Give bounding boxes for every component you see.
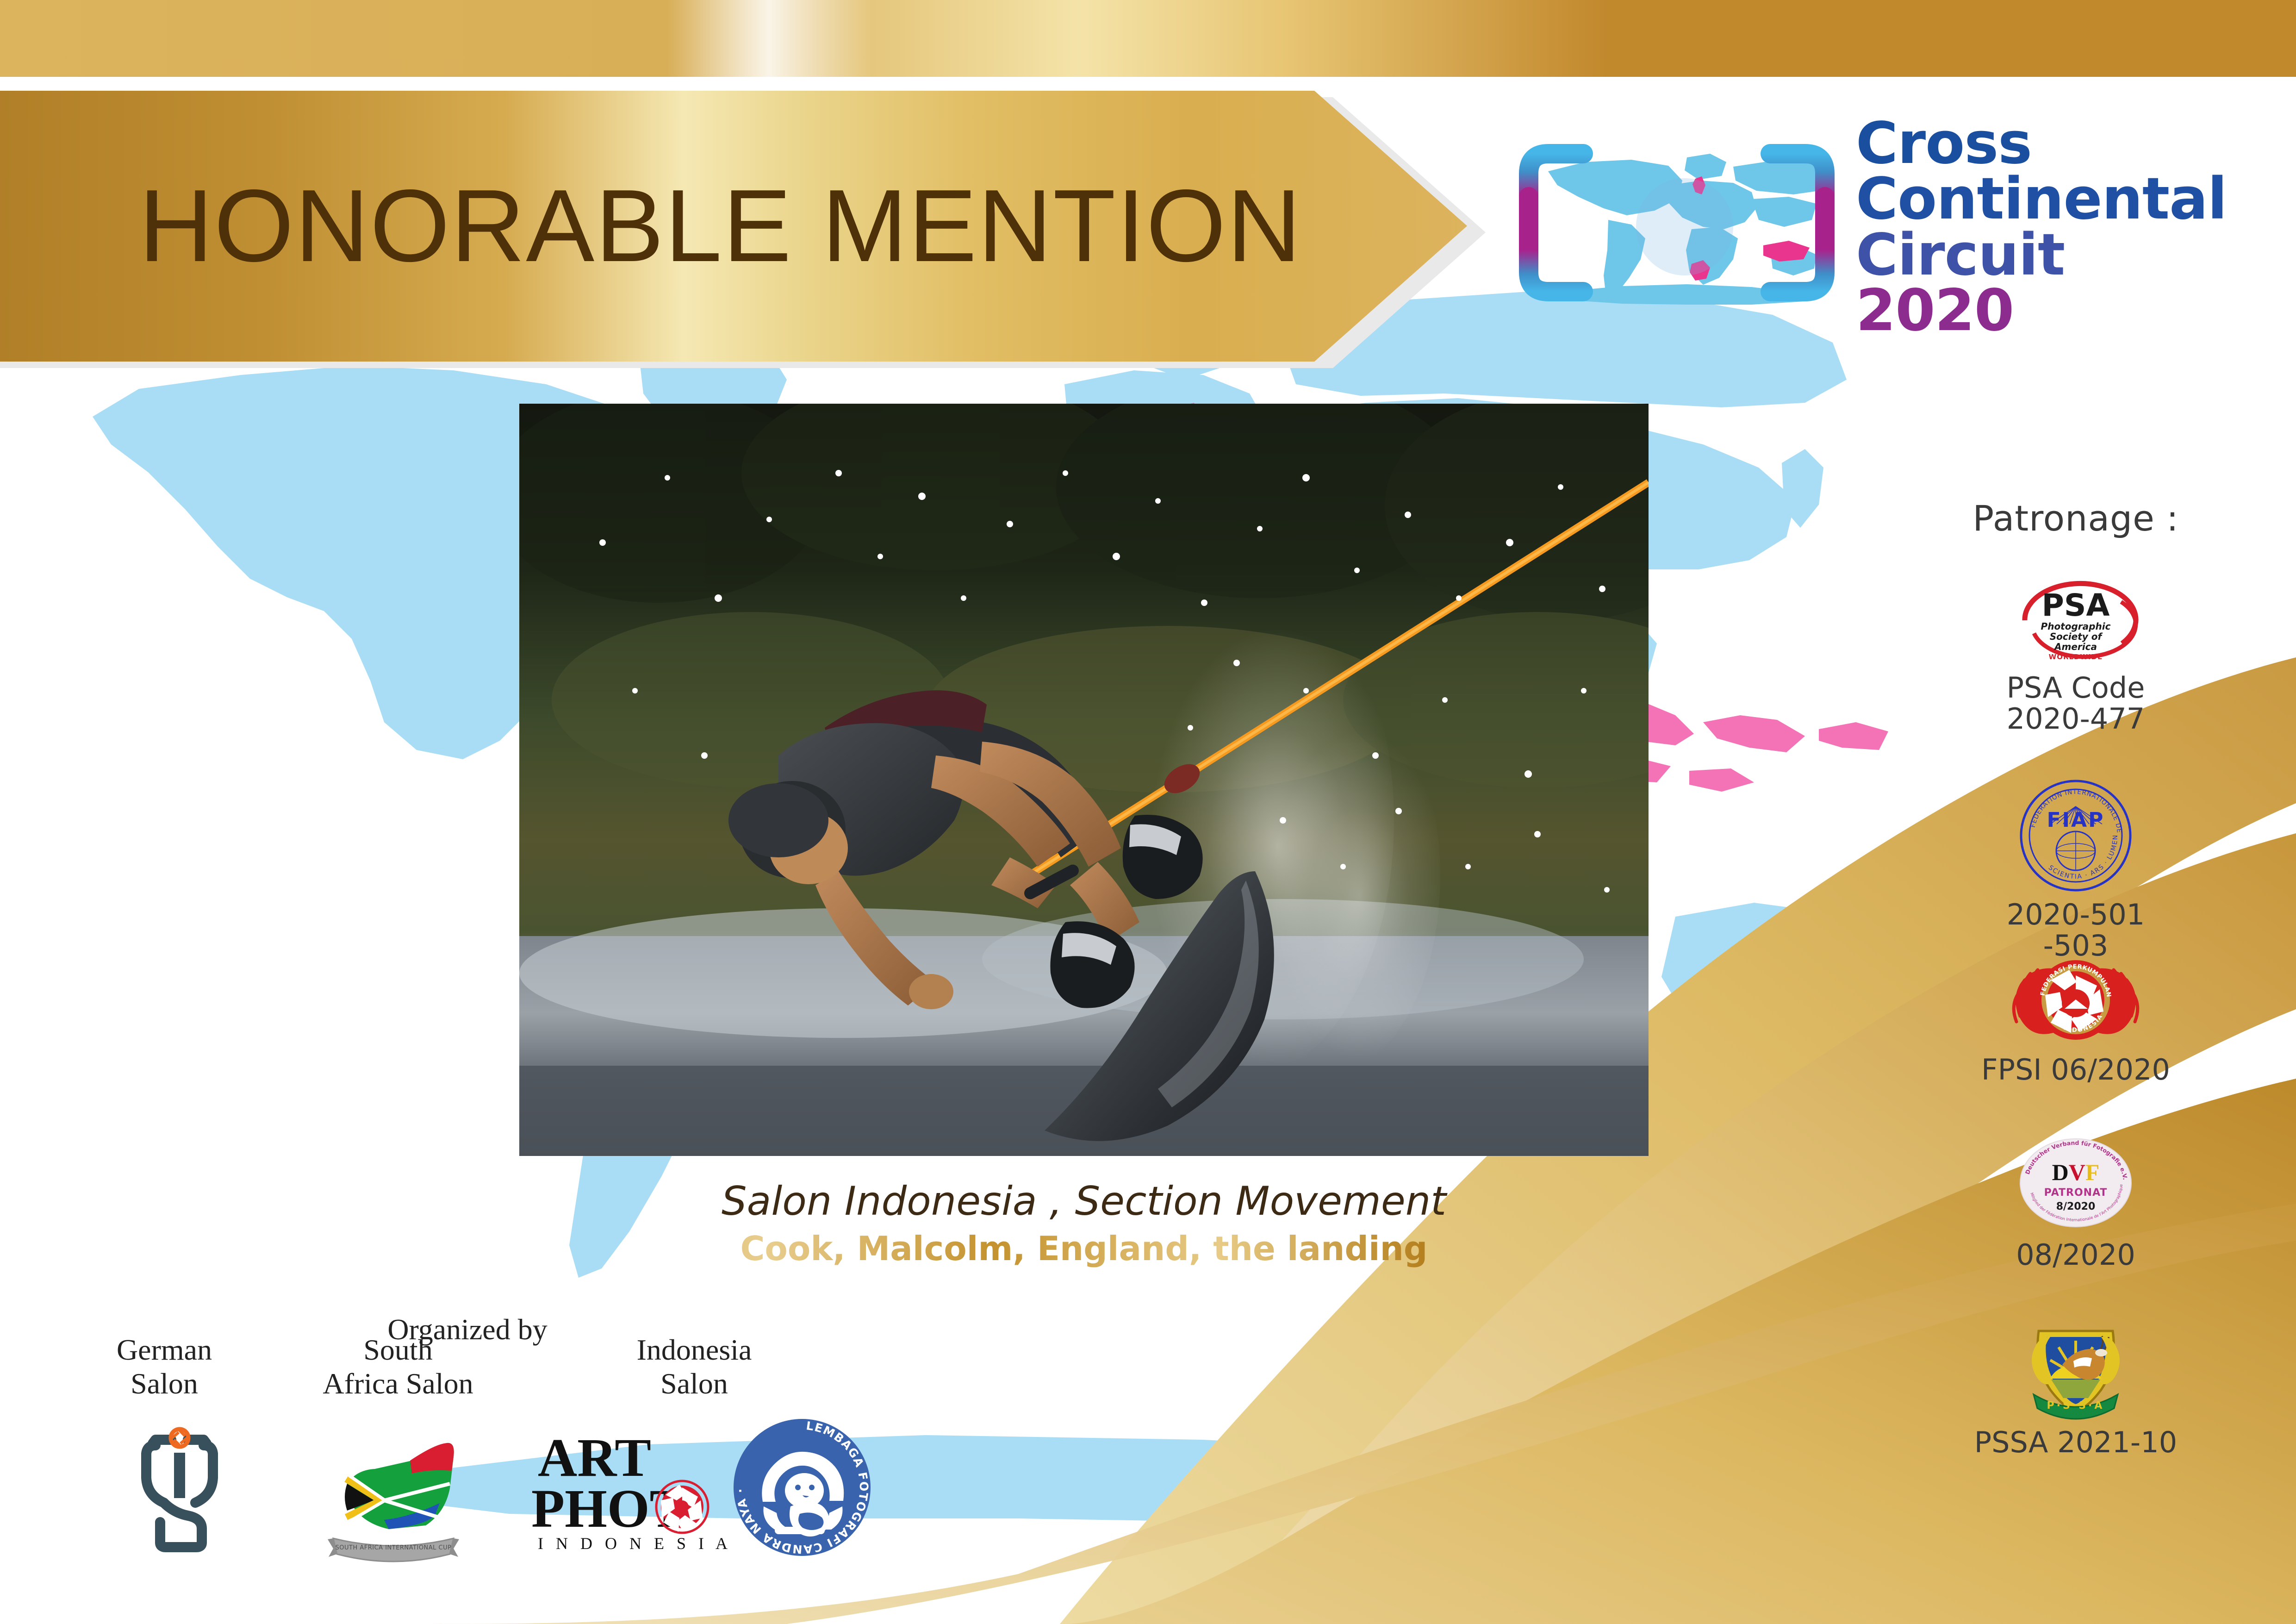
organizer-label-german: German Salon xyxy=(90,1333,238,1401)
award-photograph xyxy=(519,404,1649,1156)
patronage-item-dvf: Deutscher Verband für Fotografie e.V. Mi… xyxy=(1946,1137,2205,1271)
photo-caption-salon: Salon Indonesia , Section Movement xyxy=(519,1178,1649,1224)
brand-wordmark: Cross Continental Circuit 2020 xyxy=(1856,116,2227,338)
organizer-label-indonesia: Indonesia Salon xyxy=(602,1333,787,1401)
award-banner: HONORABLE MENTION xyxy=(0,91,1486,362)
sa-ribbon-text: SOUTH AFRICA INTERNATIONAL CUP xyxy=(336,1544,452,1551)
art-photo-indonesia-logo: ART PHOT I N D O N E S I A xyxy=(519,1421,728,1558)
svg-text:8/2020: 8/2020 xyxy=(2056,1201,2096,1212)
svg-text:Society of: Society of xyxy=(2050,631,2103,642)
patronage-item-psa: PSA Photographic Society of America WORL… xyxy=(1946,574,2205,735)
pssa-code: PSSA 2021-10 xyxy=(1946,1427,2205,1458)
artphoto-word-indonesia: I N D O N E S I A xyxy=(538,1534,728,1553)
cross-continental-circuit-logo xyxy=(1493,111,1863,333)
logo-globe-circle xyxy=(1636,178,1733,275)
photo-caption-author: Cook, Malcolm, England, the landing xyxy=(519,1229,1649,1268)
svg-text:WORLDWIDE: WORLDWIDE xyxy=(2049,653,2103,661)
lembaga-fotografi-candra-naya-jakarta-logo: LEMBAGA FOTOGRAFI CANDRA NAYA · JAKARTA … xyxy=(730,1416,874,1562)
fiap-logo: FEDERATION INTERNATIONALE DE L'ART PHOTO… xyxy=(2018,778,2134,893)
svg-text:PSA: PSA xyxy=(2042,587,2110,623)
pssa-logo: P·S·S·A xyxy=(2018,1310,2134,1421)
svg-text:DVF: DVF xyxy=(2052,1159,2100,1185)
svg-text:P·S·S·A: P·S·S·A xyxy=(2047,1400,2105,1412)
fpsi-logo: FEDERASI PERKUMPULAN SENI FOTO · INDONES… xyxy=(2006,951,2145,1049)
patronage-heading: Patronage : xyxy=(1946,498,2205,539)
top-gold-strip xyxy=(0,0,2296,77)
patronage-item-fpsi: FEDERASI PERKUMPULAN SENI FOTO · INDONES… xyxy=(1946,951,2205,1086)
page-title: HONORABLE MENTION xyxy=(0,91,1314,362)
patronage-item-fiap: FEDERATION INTERNATIONALE DE L'ART PHOTO… xyxy=(1946,778,2205,962)
strip-gloss xyxy=(666,0,872,77)
psa-code: PSA Code 2020-477 xyxy=(1946,673,2205,735)
organizer-label-south-africa: South Africa Salon xyxy=(305,1333,491,1401)
svg-text:America: America xyxy=(2053,641,2097,652)
bracket-bottom-left xyxy=(1529,250,1583,292)
brand-line-4: 2020 xyxy=(1856,283,2227,338)
dvf-code: 08/2020 xyxy=(1946,1240,2205,1271)
south-africa-salon-flag-logo: SOUTH AFRICA INTERNATIONAL CUP xyxy=(319,1414,467,1569)
svg-text:FIAP: FIAP xyxy=(2047,808,2105,832)
brand-line-1: Cross xyxy=(1856,116,2227,171)
certificate-page: HONORABLE MENTION xyxy=(0,0,2296,1624)
svg-text:PATRONAT: PATRONAT xyxy=(2044,1187,2108,1199)
aperture-icon xyxy=(656,1481,708,1533)
psa-logo: PSA Photographic Society of America WORL… xyxy=(2006,574,2145,667)
svg-text:Photographic: Photographic xyxy=(2041,621,2111,632)
brand-line-3: Circuit xyxy=(1856,227,2227,283)
german-salon-trophy-logo xyxy=(119,1417,240,1558)
dvf-logo: Deutscher Verband für Fotografie e.V. Mi… xyxy=(2018,1137,2134,1234)
brand-line-2: Continental xyxy=(1856,171,2227,227)
fpsi-code: FPSI 06/2020 xyxy=(1946,1055,2205,1086)
patronage-item-pssa: P·S·S·A PSSA 2021-10 xyxy=(1946,1310,2205,1458)
